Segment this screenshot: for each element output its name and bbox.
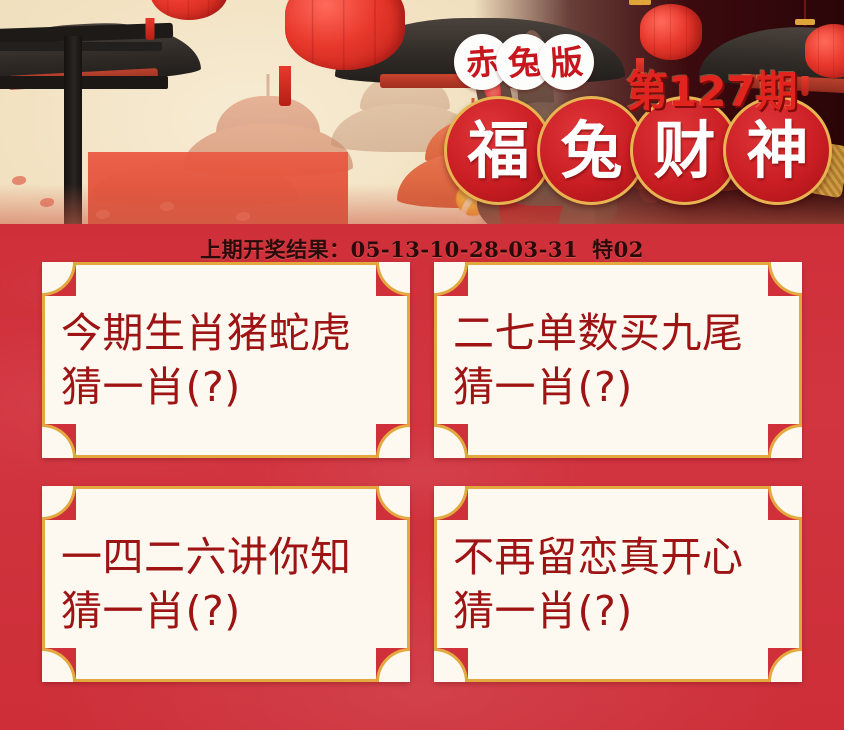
lottery-poster: 第127期 赤 兔 版 福 兔	[0, 0, 844, 730]
corner-notch-bottom-right	[376, 424, 410, 458]
riddle-line-1: 今期生肖猪蛇虎	[61, 307, 391, 359]
title-char-1: 福	[467, 120, 529, 182]
issue-number: 第127期	[626, 58, 798, 119]
edition-char-1: 赤	[464, 44, 499, 79]
corner-notch-bottom-left	[434, 648, 468, 682]
corner-notch-top-left	[434, 486, 468, 520]
title-char-4: 神	[746, 120, 808, 182]
riddle-line-2: 猜一肖(?)	[61, 585, 391, 637]
corner-notch-bottom-left	[42, 648, 76, 682]
corner-notch-top-left	[42, 486, 76, 520]
corner-notch-top-right	[376, 486, 410, 520]
title-lockup: 第127期 赤 兔 版 福 兔	[444, 34, 844, 214]
corner-notch-bottom-right	[376, 648, 410, 682]
riddle-line-2: 猜一肖(?)	[453, 361, 783, 413]
edition-badge: 赤 兔 版	[454, 34, 580, 90]
riddle-card[interactable]: 不再留恋真开心 猜一肖(?)	[434, 486, 802, 682]
corner-notch-top-right	[768, 262, 802, 296]
riddle-line-2: 猜一肖(?)	[453, 585, 783, 637]
riddle-card[interactable]: 二七单数买九尾 猜一肖(?)	[434, 262, 802, 458]
riddle-card-grid: 今期生肖猪蛇虎 猜一肖(?) 二七单数买九尾 猜一肖(?) 一四二六讲你知 猜一…	[42, 262, 802, 682]
corner-notch-top-right	[768, 486, 802, 520]
riddle-card[interactable]: 今期生肖猪蛇虎 猜一肖(?)	[42, 262, 410, 458]
corner-notch-bottom-right	[768, 648, 802, 682]
lantern-tassel	[279, 66, 291, 106]
riddle-line-1: 不再留恋真开心	[453, 531, 783, 583]
riddle-line-1: 二七单数买九尾	[453, 307, 783, 359]
corner-notch-bottom-left	[434, 424, 468, 458]
riddle-line-2: 猜一肖(?)	[61, 361, 391, 413]
title-char-2: 兔	[560, 120, 622, 182]
hero-banner: 第127期 赤 兔 版 福 兔	[0, 0, 844, 224]
torii-crossbeam	[0, 76, 168, 89]
previous-draw-result: 上期开奖结果：05-13-10-28-03-31特02	[0, 234, 844, 264]
previous-draw-label: 上期开奖结果：	[200, 234, 351, 264]
corner-notch-bottom-left	[42, 424, 76, 458]
riddle-card-content: 今期生肖猪蛇虎 猜一肖(?)	[45, 265, 407, 455]
edition-char-2: 兔	[506, 44, 541, 79]
riddle-card-content: 一四二六讲你知 猜一肖(?)	[45, 489, 407, 679]
special-number: 02	[614, 237, 644, 262]
edition-badge-char: 版	[538, 34, 594, 90]
corner-notch-top-left	[434, 262, 468, 296]
corner-notch-top-right	[376, 262, 410, 296]
lantern-tassel	[146, 18, 155, 40]
corner-notch-top-left	[42, 262, 76, 296]
previous-draw-numbers: 05-13-10-28-03-31	[351, 237, 578, 262]
riddle-card-content: 不再留恋真开心 猜一肖(?)	[437, 489, 799, 679]
corner-notch-bottom-right	[768, 424, 802, 458]
riddle-card-content: 二七单数买九尾 猜一肖(?)	[437, 265, 799, 455]
special-label: 特	[578, 234, 614, 264]
lantern-cap	[795, 19, 815, 25]
lantern-cap	[629, 0, 651, 5]
edition-char-3: 版	[548, 44, 583, 79]
title-char-3: 财	[653, 120, 715, 182]
riddle-line-1: 一四二六讲你知	[61, 531, 391, 583]
riddle-card[interactable]: 一四二六讲你知 猜一肖(?)	[42, 486, 410, 682]
